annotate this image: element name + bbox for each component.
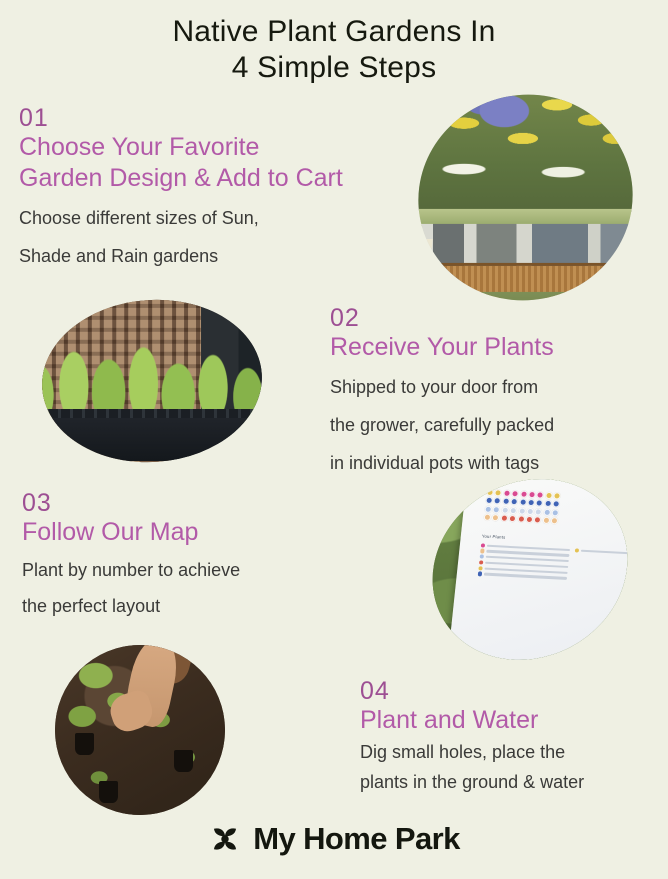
holding-hand [37, 390, 38, 469]
map-plant-dot [542, 517, 550, 524]
step-03-text-block: 03 Follow Our Map Plant by number to ach… [22, 489, 240, 620]
map-plant-dot [509, 515, 517, 522]
step-04-body-line-1: Dig small holes, place the [360, 738, 584, 766]
map-plant-dot [535, 508, 543, 515]
brand-logo: My Home Park [0, 821, 668, 857]
step-01-heading-line-2: Garden Design & Add to Cart [19, 163, 343, 194]
map-plant-dot [537, 491, 545, 498]
nursery-pot [75, 733, 94, 755]
infographic-poster: Native Plant Gardens In 4 Simple Steps 0… [0, 0, 668, 879]
step-02-body-line-2: the grower, carefully packed [330, 411, 554, 439]
step-04-planting-photo [55, 645, 225, 815]
step-01-body-line-2: Shade and Rain gardens [19, 242, 343, 270]
brand-name: My Home Park [253, 821, 459, 857]
step-04-heading: Plant and Water [360, 705, 584, 736]
map-plant-dot [511, 498, 519, 505]
map-plant-dot [492, 514, 500, 521]
map-legend-dot [575, 548, 580, 553]
planting-map-card: Full Sun Kit - 32 PlantsPLANTING GUIDE Y… [445, 445, 659, 693]
map-plant-dot [510, 506, 518, 513]
map-plant-dot [528, 491, 536, 498]
map-plant-dot [485, 505, 493, 512]
map-plant-dot [551, 517, 559, 524]
map-plant-dot [501, 506, 509, 513]
step-03-heading: Follow Our Map [22, 517, 240, 548]
map-plant-dot [502, 498, 510, 505]
step-02-plant-tray-photo [37, 293, 268, 470]
map-plant-dot [526, 507, 534, 514]
map-dot-grid [484, 488, 660, 530]
step-02-text-block: 02 Receive Your Plants Shipped to your d… [330, 304, 554, 477]
page-title-line-1: Native Plant Gardens In [0, 14, 668, 50]
step-03-planting-map-photo: Full Sun Kit - 32 PlantsPLANTING GUIDE Y… [401, 445, 660, 693]
garden-flower-bed [394, 69, 657, 212]
map-plant-dot [527, 499, 535, 506]
map-plant-dot [495, 489, 503, 496]
map-plant-dot [500, 514, 508, 521]
map-legend-dot [481, 543, 486, 548]
step-04-body-line-2: plants in the ground & water [360, 768, 584, 796]
four-petal-flower-icon [208, 822, 242, 856]
garden-patio-chair [408, 239, 436, 292]
step-03-number: 03 [22, 489, 240, 517]
map-plant-dot [494, 497, 502, 504]
map-legend-dot [478, 566, 483, 571]
map-plant-dot [518, 507, 526, 514]
step-03-body-line-1: Plant by number to achieve [22, 556, 240, 584]
map-footer-url [464, 671, 540, 677]
map-plant-dot [493, 506, 501, 513]
nursery-pot [99, 781, 118, 803]
map-legend-dot [480, 548, 485, 553]
map-plant-dot [534, 516, 542, 523]
step-01-garden-photo [394, 69, 657, 325]
step-03-body-line-2: the perfect layout [22, 592, 240, 620]
map-legend-dot [480, 554, 485, 559]
map-plant-dot [543, 508, 551, 515]
step-01-body-line-1: Choose different sizes of Sun, [19, 204, 343, 232]
step-02-body-line-3: in individual pots with tags [330, 449, 554, 477]
map-plant-dot [511, 490, 519, 497]
map-plant-dot [544, 500, 552, 507]
map-legend-dot [478, 571, 483, 576]
map-plant-dot [536, 499, 544, 506]
map-legend-dot [479, 560, 484, 565]
step-01-number: 01 [19, 104, 343, 132]
map-plant-dot [553, 492, 561, 499]
map-plant-dot [552, 509, 560, 516]
map-plant-dot [520, 490, 528, 497]
map-plant-dot [545, 492, 553, 499]
step-01-text-block: 01 Choose Your Favorite Garden Design & … [19, 104, 343, 270]
map-plant-dot [526, 516, 534, 523]
map-plant-dot [553, 500, 561, 507]
black-plant-tray [37, 417, 268, 460]
map-plant-dot [486, 488, 494, 495]
step-01-heading-line-1: Choose Your Favorite [19, 132, 343, 163]
step-02-heading: Receive Your Plants [330, 332, 554, 363]
step-02-number: 02 [330, 304, 554, 332]
map-plant-dot [485, 497, 493, 504]
map-plant-dot [484, 513, 492, 520]
map-plant-dot [503, 489, 511, 496]
step-04-number: 04 [360, 677, 584, 705]
map-plant-dot [517, 515, 525, 522]
nursery-pot [174, 750, 193, 772]
step-02-body-line-1: Shipped to your door from [330, 373, 554, 401]
page-title: Native Plant Gardens In 4 Simple Steps [0, 14, 668, 86]
map-plant-dot [519, 499, 527, 506]
step-04-text-block: 04 Plant and Water Dig small holes, plac… [360, 677, 584, 796]
map-card-subtitle: PLANTING GUIDE [549, 476, 578, 481]
